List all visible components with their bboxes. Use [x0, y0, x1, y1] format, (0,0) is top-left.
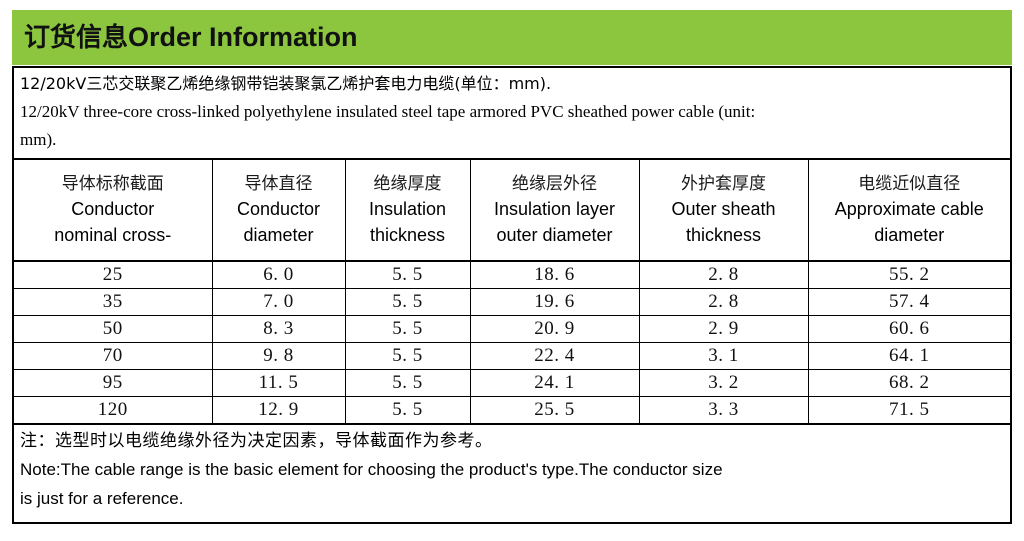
- cell-conductor-diameter: 11. 5: [212, 370, 345, 397]
- cell-conductor-diameter: 9. 8: [212, 343, 345, 370]
- cell-conductor-diameter: 8. 3: [212, 316, 345, 343]
- footnote-line-english-2: is just for a reference.: [20, 484, 1004, 513]
- footnote-line-english-1: Note:The cable range is the basic elemen…: [20, 455, 1004, 484]
- cell-insulation-layer-outer-diameter: 24. 1: [470, 370, 639, 397]
- column-header-insulation-thickness: 绝缘厚度 Insulation thickness: [345, 160, 470, 261]
- table-row: 25 6. 0 5. 5 18. 6 2. 8 55. 2: [14, 261, 1010, 289]
- column-header-english-line-1: Conductor: [215, 196, 343, 222]
- cell-approximate-cable-diameter: 60. 6: [808, 316, 1010, 343]
- cell-conductor-nominal-cross-section: 35: [14, 289, 212, 316]
- column-header-chinese: 电缆近似直径: [811, 172, 1009, 196]
- description-line-english-1: 12/20kV three-core cross-linked polyethy…: [20, 98, 1004, 126]
- cell-conductor-nominal-cross-section: 95: [14, 370, 212, 397]
- cell-insulation-layer-outer-diameter: 20. 9: [470, 316, 639, 343]
- table-row: 95 11. 5 5. 5 24. 1 3. 2 68. 2: [14, 370, 1010, 397]
- cell-insulation-layer-outer-diameter: 22. 4: [470, 343, 639, 370]
- page-title: 订货信息Order Information: [24, 24, 358, 51]
- column-header-english-line-2: diameter: [215, 222, 343, 248]
- cell-insulation-thickness: 5. 5: [345, 289, 470, 316]
- description-line-english-2: mm).: [20, 126, 1004, 154]
- column-header-english-line-2: thickness: [348, 222, 468, 248]
- page-title-chinese: 订货信息: [24, 23, 128, 53]
- column-header-insulation-layer-outer-diameter: 绝缘层外径 Insulation layer outer diameter: [470, 160, 639, 261]
- column-header-chinese: 绝缘层外径: [473, 172, 637, 196]
- column-header-english-line-1: Outer sheath: [642, 196, 806, 222]
- table-footnote: 注：选型时以电缆绝缘外径为决定因素，导体截面作为参考。 Note:The cab…: [14, 425, 1010, 513]
- cell-outer-sheath-thickness: 2. 8: [639, 289, 808, 316]
- table-header-row: 导体标称截面 Conductor nominal cross- 导体直径 Con…: [14, 160, 1010, 261]
- cell-conductor-nominal-cross-section: 120: [14, 397, 212, 425]
- cell-conductor-diameter: 7. 0: [212, 289, 345, 316]
- product-description: 12/20kV三芯交联聚乙烯绝缘钢带铠装聚氯乙烯护套电力电缆(单位：mm). 1…: [14, 68, 1010, 160]
- table-row: 120 12. 9 5. 5 25. 5 3. 3 71. 5: [14, 397, 1010, 425]
- cell-outer-sheath-thickness: 2. 8: [639, 261, 808, 289]
- column-header-english-line-1: Approximate cable: [811, 196, 1009, 222]
- table-row: 35 7. 0 5. 5 19. 6 2. 8 57. 4: [14, 289, 1010, 316]
- cell-outer-sheath-thickness: 3. 3: [639, 397, 808, 425]
- cell-outer-sheath-thickness: 3. 2: [639, 370, 808, 397]
- column-header-english-line-1: Insulation layer: [473, 196, 637, 222]
- cell-insulation-thickness: 5. 5: [345, 261, 470, 289]
- description-line-chinese: 12/20kV三芯交联聚乙烯绝缘钢带铠装聚氯乙烯护套电力电缆(单位：mm).: [20, 70, 1004, 98]
- cell-approximate-cable-diameter: 55. 2: [808, 261, 1010, 289]
- table-row: 50 8. 3 5. 5 20. 9 2. 9 60. 6: [14, 316, 1010, 343]
- cell-conductor-nominal-cross-section: 50: [14, 316, 212, 343]
- cell-insulation-thickness: 5. 5: [345, 370, 470, 397]
- order-information-banner: 订货信息Order Information: [12, 10, 1012, 65]
- cell-conductor-diameter: 12. 9: [212, 397, 345, 425]
- cell-insulation-thickness: 5. 5: [345, 397, 470, 425]
- column-header-english-line-1: Insulation: [348, 196, 468, 222]
- column-header-english-line-2: thickness: [642, 222, 806, 248]
- cell-outer-sheath-thickness: 3. 1: [639, 343, 808, 370]
- cell-insulation-layer-outer-diameter: 19. 6: [470, 289, 639, 316]
- cell-conductor-diameter: 6. 0: [212, 261, 345, 289]
- cell-insulation-layer-outer-diameter: 25. 5: [470, 397, 639, 425]
- cell-outer-sheath-thickness: 2. 9: [639, 316, 808, 343]
- page-title-english: Order Information: [128, 22, 358, 52]
- column-header-outer-sheath-thickness: 外护套厚度 Outer sheath thickness: [639, 160, 808, 261]
- cell-approximate-cable-diameter: 57. 4: [808, 289, 1010, 316]
- order-information-page: 订货信息Order Information 12/20kV三芯交联聚乙烯绝缘钢带…: [0, 0, 1024, 541]
- cell-approximate-cable-diameter: 68. 2: [808, 370, 1010, 397]
- column-header-english-line-2: nominal cross-: [16, 222, 210, 248]
- column-header-chinese: 导体标称截面: [16, 172, 210, 196]
- column-header-english-line-1: Conductor: [16, 196, 210, 222]
- column-header-chinese: 导体直径: [215, 172, 343, 196]
- cell-insulation-thickness: 5. 5: [345, 316, 470, 343]
- table-row: 70 9. 8 5. 5 22. 4 3. 1 64. 1: [14, 343, 1010, 370]
- specification-sheet: 12/20kV三芯交联聚乙烯绝缘钢带铠装聚氯乙烯护套电力电缆(单位：mm). 1…: [12, 66, 1012, 524]
- cell-insulation-layer-outer-diameter: 18. 6: [470, 261, 639, 289]
- column-header-conductor-diameter: 导体直径 Conductor diameter: [212, 160, 345, 261]
- cell-conductor-nominal-cross-section: 25: [14, 261, 212, 289]
- column-header-english-line-2: outer diameter: [473, 222, 637, 248]
- cell-insulation-thickness: 5. 5: [345, 343, 470, 370]
- cell-conductor-nominal-cross-section: 70: [14, 343, 212, 370]
- column-header-approximate-cable-diameter: 电缆近似直径 Approximate cable diameter: [808, 160, 1010, 261]
- column-header-chinese: 绝缘厚度: [348, 172, 468, 196]
- column-header-conductor-nominal-cross-section: 导体标称截面 Conductor nominal cross-: [14, 160, 212, 261]
- footnote-line-chinese: 注：选型时以电缆绝缘外径为决定因素，导体截面作为参考。: [20, 427, 1004, 455]
- cell-approximate-cable-diameter: 71. 5: [808, 397, 1010, 425]
- cell-approximate-cable-diameter: 64. 1: [808, 343, 1010, 370]
- column-header-english-line-2: diameter: [811, 222, 1009, 248]
- column-header-chinese: 外护套厚度: [642, 172, 806, 196]
- cable-specification-table: 导体标称截面 Conductor nominal cross- 导体直径 Con…: [14, 160, 1010, 425]
